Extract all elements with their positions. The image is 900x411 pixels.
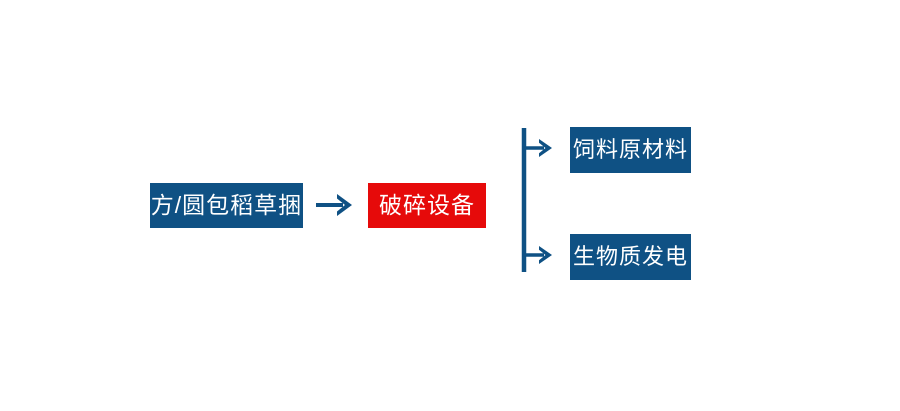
flow-node-output-feed-label: 饲料原材料 bbox=[573, 139, 688, 161]
flow-node-output-power[interactable]: 生物质发电 bbox=[570, 234, 691, 280]
process-flow-diagram: 方/圆包稻草捆 破碎设备 饲料原材料 生物质发电 bbox=[0, 0, 900, 411]
flow-node-process-label: 破碎设备 bbox=[379, 194, 475, 217]
flow-node-output-feed[interactable]: 饲料原材料 bbox=[570, 127, 691, 173]
flow-node-process[interactable]: 破碎设备 bbox=[368, 183, 486, 228]
flow-node-input-label: 方/圆包稻草捆 bbox=[151, 194, 302, 217]
arrow-right-icon-main bbox=[313, 188, 355, 222]
flow-node-input[interactable]: 方/圆包稻草捆 bbox=[150, 183, 303, 228]
flow-node-output-power-label: 生物质发电 bbox=[573, 246, 688, 268]
branch-connector bbox=[514, 120, 560, 280]
